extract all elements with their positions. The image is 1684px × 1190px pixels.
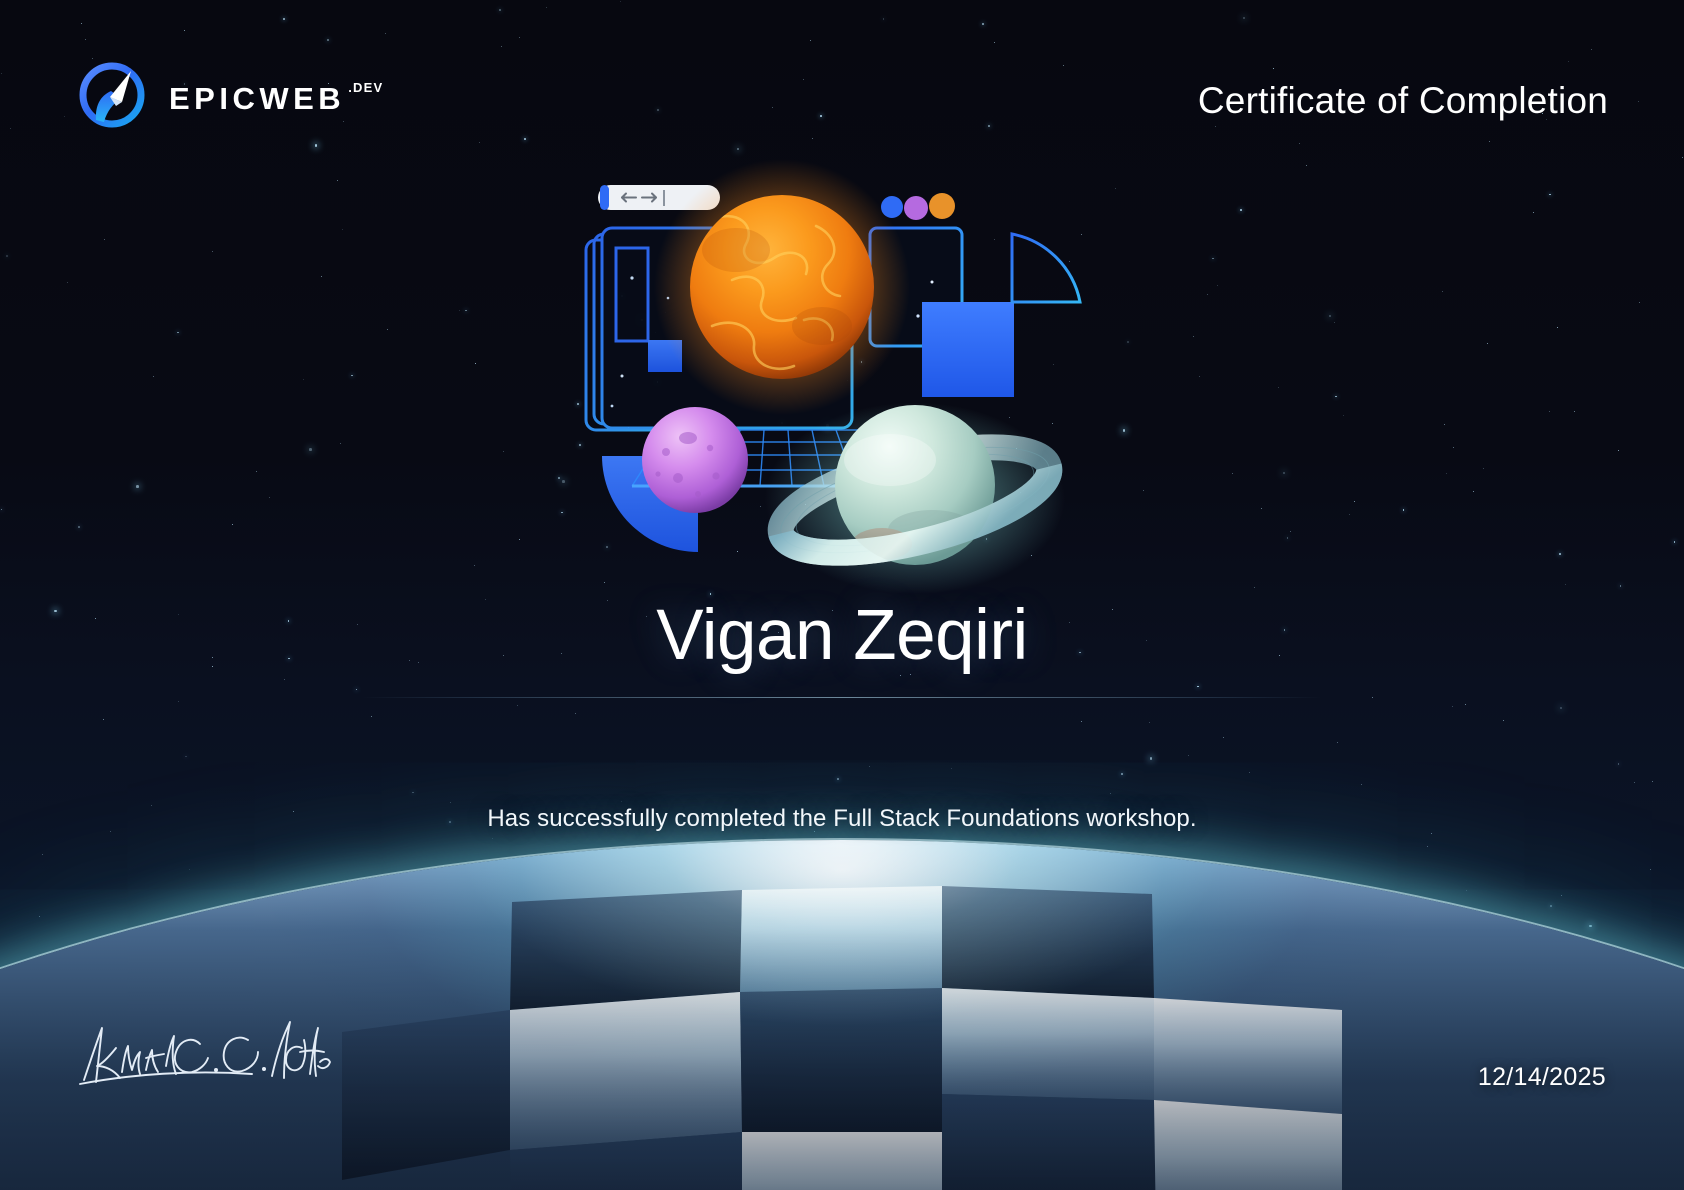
certificate-canvas: EPICWEB .DEV Certificate of Completion xyxy=(0,0,1684,1190)
brand-tld-text: .DEV xyxy=(348,81,383,94)
brand-name-text: EPICWEB xyxy=(169,83,345,114)
completion-statement: Has successfully completed the Full Stac… xyxy=(0,805,1684,833)
purple-dot-icon xyxy=(904,196,928,220)
name-divider xyxy=(362,697,1322,698)
recipient-block: Vigan Zeqiri xyxy=(0,598,1684,698)
page-title: Certificate of Completion xyxy=(1198,80,1608,122)
purple-moon-icon xyxy=(642,407,748,513)
orange-planet-icon xyxy=(654,159,910,415)
quarter-circle-icon xyxy=(1012,234,1080,302)
blue-dot-icon xyxy=(881,196,903,218)
brand-wordmark: EPICWEB .DEV xyxy=(169,77,383,114)
orange-dot-icon xyxy=(929,193,955,219)
space-planets-illustration xyxy=(560,130,1120,600)
epicweb-rocket-logo-icon xyxy=(75,58,149,132)
text-cursor-icon xyxy=(663,190,665,206)
issue-date: 12/14/2025 xyxy=(1478,1063,1606,1092)
brand-lockup: EPICWEB .DEV xyxy=(75,58,383,132)
handwritten-signature-icon xyxy=(72,1014,332,1090)
certificate-header: EPICWEB .DEV Certificate of Completion xyxy=(0,0,1684,180)
embossed-logo-mark-icon xyxy=(342,840,1342,1190)
ringed-planet-icon xyxy=(765,402,1065,594)
recipient-name: Vigan Zeqiri xyxy=(0,598,1684,675)
